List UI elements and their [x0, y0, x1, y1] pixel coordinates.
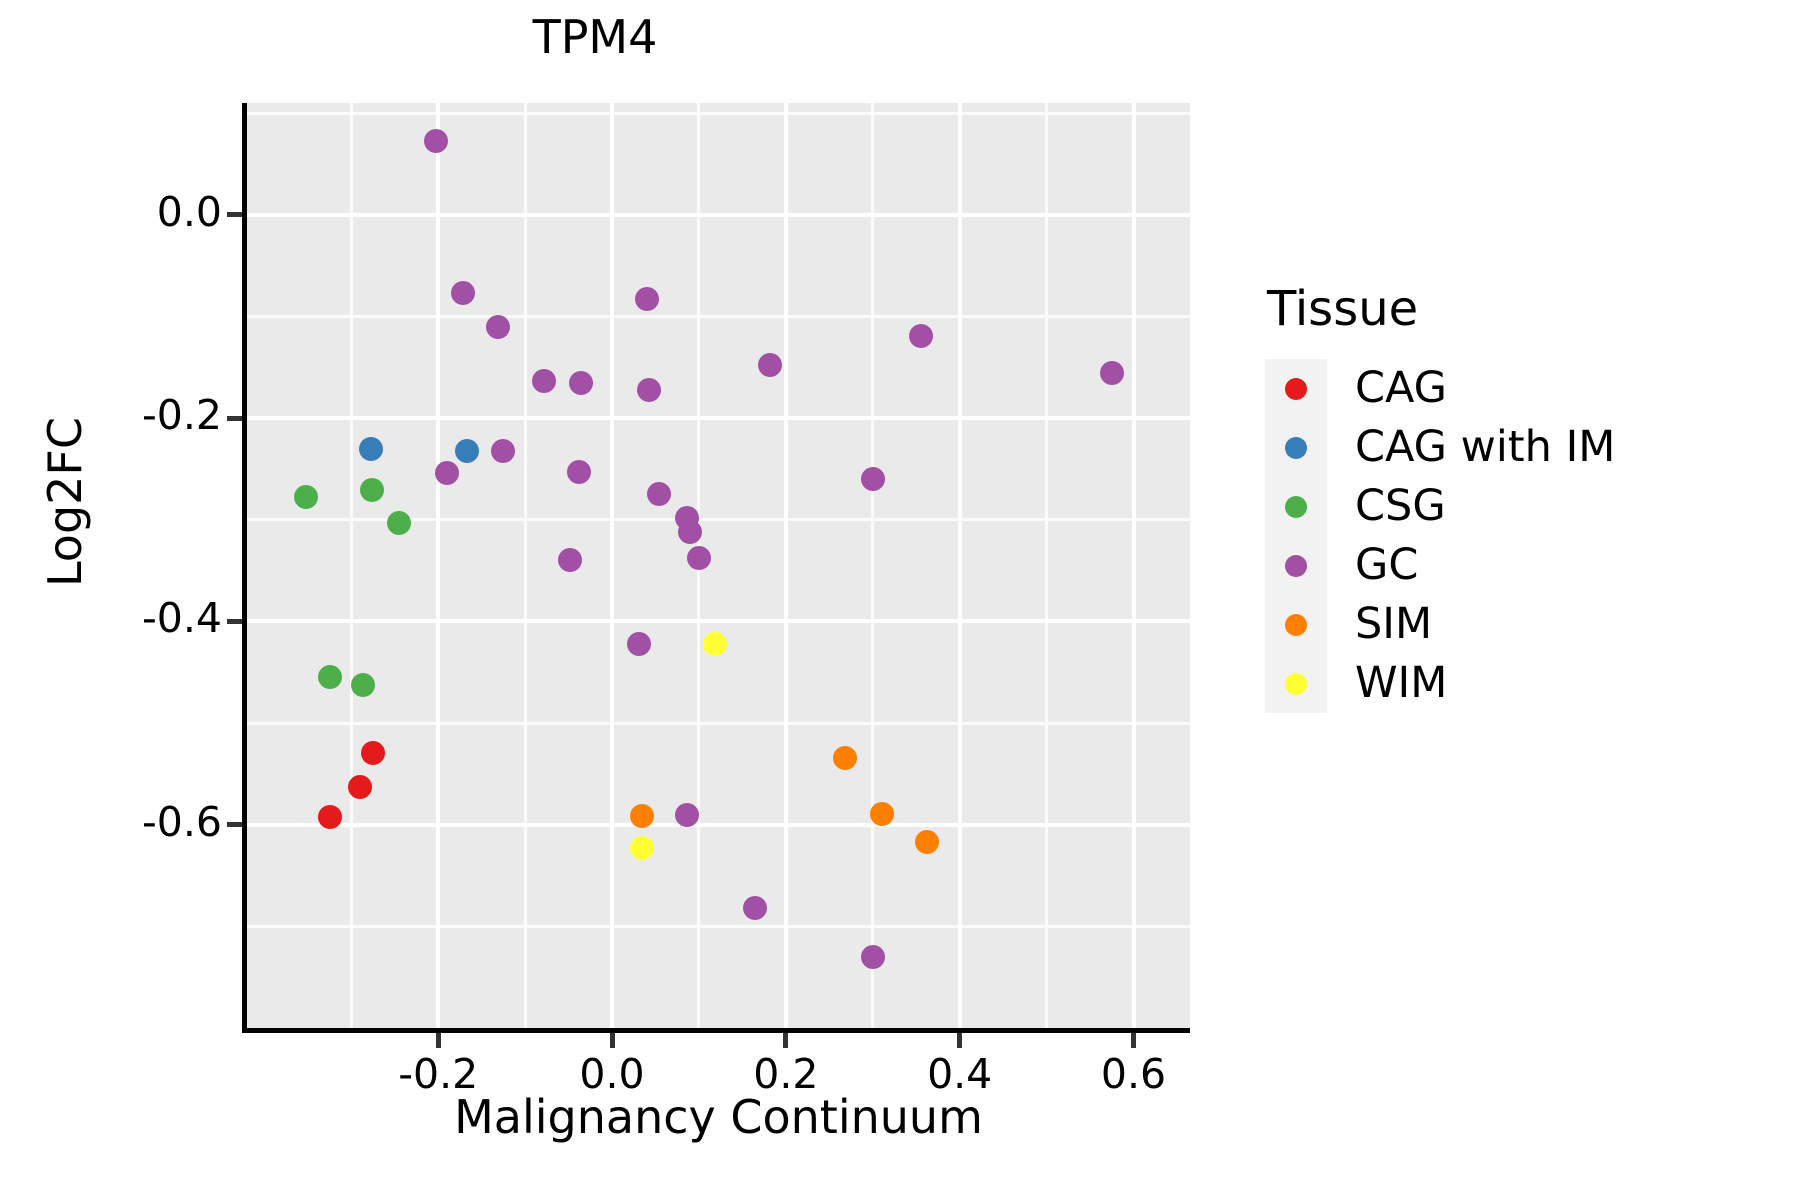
x-tick-mark: [436, 1033, 441, 1048]
data-point-gc: [558, 548, 582, 572]
data-point-gc: [451, 281, 475, 305]
data-point-gc: [637, 378, 661, 402]
gridline-major-vertical: [784, 103, 788, 1028]
data-point-csg: [318, 665, 342, 689]
y-tick-label: -0.4: [142, 594, 222, 642]
legend-item-label: WIM: [1355, 662, 1447, 705]
data-point-csg: [351, 673, 375, 697]
legend: Tissue CAGCAG with IMCSGGCSIMWIM: [1265, 285, 1765, 713]
gridline-major-horizontal: [247, 416, 1190, 420]
data-point-sim: [630, 804, 654, 828]
gridline-minor-horizontal: [247, 112, 1190, 115]
legend-item-cag-with-im[interactable]: CAG with IM: [1265, 418, 1765, 477]
legend-item-wim[interactable]: WIM: [1265, 654, 1765, 713]
gridline-minor-horizontal: [247, 925, 1190, 928]
data-point-csg: [360, 478, 384, 502]
data-point-gc: [861, 945, 885, 969]
data-point-cag: [348, 775, 372, 799]
legend-key-swatch: [1265, 595, 1327, 654]
data-point-gc: [435, 461, 459, 485]
x-tick-mark: [610, 1033, 615, 1048]
gridline-minor-vertical: [524, 103, 527, 1028]
legend-key-swatch: [1265, 359, 1327, 418]
data-point-cag: [318, 805, 342, 829]
legend-item-sim[interactable]: SIM: [1265, 595, 1765, 654]
legend-key-swatch: [1265, 418, 1327, 477]
y-axis-title: Log2FC: [38, 322, 92, 682]
legend-dot-icon: [1285, 673, 1307, 695]
y-tick-mark: [227, 822, 242, 827]
data-point-gc: [486, 315, 510, 339]
gridline-major-vertical: [958, 103, 962, 1028]
legend-key-swatch: [1265, 654, 1327, 713]
y-tick-label: 0.0: [157, 188, 222, 236]
x-tick-mark: [783, 1033, 788, 1048]
legend-item-csg[interactable]: CSG: [1265, 477, 1765, 536]
legend-title: Tissue: [1267, 285, 1765, 333]
legend-dot-icon: [1285, 496, 1307, 518]
gridline-minor-vertical: [1045, 103, 1048, 1028]
data-point-gc: [758, 353, 782, 377]
legend-key-swatch: [1265, 477, 1327, 536]
data-point-csg: [387, 511, 411, 535]
gridline-minor-horizontal: [247, 315, 1190, 318]
data-point-gc: [532, 369, 556, 393]
legend-dot-icon: [1285, 378, 1307, 400]
gridline-major-vertical: [610, 103, 614, 1028]
data-point-gc: [647, 482, 671, 506]
y-tick-mark: [227, 619, 242, 624]
x-axis-line: [242, 1028, 1190, 1033]
legend-item-label: CAG: [1355, 367, 1447, 410]
data-point-csg: [294, 485, 318, 509]
data-point-wim: [703, 632, 727, 656]
data-point-gc: [909, 324, 933, 348]
legend-item-gc[interactable]: GC: [1265, 536, 1765, 595]
data-point-gc: [861, 467, 885, 491]
data-point-gc: [675, 803, 699, 827]
gridline-minor-vertical: [350, 103, 353, 1028]
y-tick-mark: [227, 212, 242, 217]
data-point-gc: [635, 287, 659, 311]
data-point-cag: [361, 741, 385, 765]
data-point-sim: [915, 830, 939, 854]
gridline-major-vertical: [1132, 103, 1136, 1028]
data-point-gc: [491, 439, 515, 463]
x-tick-mark: [957, 1033, 962, 1048]
legend-item-cag[interactable]: CAG: [1265, 359, 1765, 418]
chart-root: TPM4 0.0-0.2-0.4-0.6 -0.20.00.20.40.6 Lo…: [0, 0, 1800, 1200]
x-axis-title: Malignancy Continuum: [247, 1090, 1190, 1144]
gridline-major-horizontal: [247, 823, 1190, 827]
legend-item-label: SIM: [1355, 603, 1432, 646]
legend-dot-icon: [1285, 437, 1307, 459]
legend-item-label: CSG: [1355, 485, 1446, 528]
gridline-major-horizontal: [247, 213, 1190, 217]
legend-item-label: GC: [1355, 544, 1418, 587]
data-point-gc: [424, 129, 448, 153]
data-point-gc: [687, 546, 711, 570]
plot-panel: [247, 103, 1190, 1028]
y-tick-label: -0.6: [142, 798, 222, 846]
data-point-gc: [1100, 361, 1124, 385]
legend-dot-icon: [1285, 555, 1307, 577]
data-point-gc: [743, 896, 767, 920]
y-tick-label: -0.2: [142, 391, 222, 439]
legend-dot-icon: [1285, 614, 1307, 636]
gridline-major-vertical: [436, 103, 440, 1028]
legend-items: CAGCAG with IMCSGGCSIMWIM: [1265, 359, 1765, 713]
data-point-gc: [569, 371, 593, 395]
y-axis-line: [242, 103, 247, 1028]
legend-item-label: CAG with IM: [1355, 426, 1615, 469]
data-point-sim: [833, 746, 857, 770]
data-point-cag-with-im: [455, 439, 479, 463]
data-point-gc: [627, 632, 651, 656]
gridline-minor-vertical: [871, 103, 874, 1028]
data-point-cag-with-im: [359, 437, 383, 461]
data-point-wim: [630, 836, 654, 860]
legend-key-swatch: [1265, 536, 1327, 595]
gridline-minor-horizontal: [247, 722, 1190, 725]
x-tick-mark: [1131, 1033, 1136, 1048]
data-point-sim: [870, 802, 894, 826]
page-title: TPM4: [0, 10, 1190, 64]
data-point-gc: [567, 460, 591, 484]
gridline-major-horizontal: [247, 619, 1190, 623]
y-tick-mark: [227, 416, 242, 421]
